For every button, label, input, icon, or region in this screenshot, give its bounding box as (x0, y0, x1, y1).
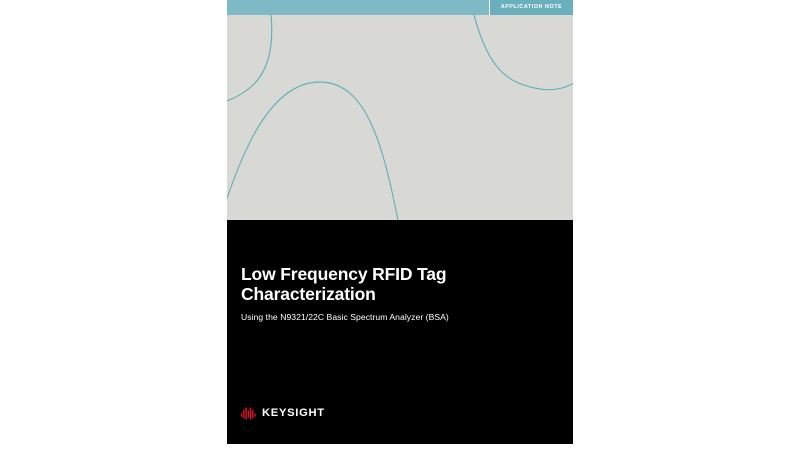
page-title: Low Frequency RFID Tag Characterization (241, 264, 561, 305)
left-descending-wave-icon (227, 0, 272, 105)
cover-title-block: Low Frequency RFID Tag Characterization … (241, 264, 561, 323)
application-note-badge-label: APPLICATION NOTE (501, 5, 562, 10)
keysight-wordmark: KEYSIGHT (262, 408, 325, 419)
brochure-cover-page: Low Frequency RFID Tag Characterization … (227, 0, 573, 444)
badge-separator (489, 0, 490, 15)
application-note-badge: APPLICATION NOTE (490, 0, 573, 15)
page-subtitle: Using the N9321/22C Basic Spectrum Analy… (241, 312, 561, 323)
wave-graphic (227, 0, 573, 220)
cover-content-panel: Low Frequency RFID Tag Characterization … (227, 220, 573, 444)
keysight-logo: KEYSIGHT (241, 407, 325, 420)
center-hump-wave-icon (227, 82, 401, 220)
cover-graphic-area (227, 0, 573, 220)
document-preview-viewer: Low Frequency RFID Tag Characterization … (0, 0, 800, 450)
keysight-waveform-mark-icon (241, 407, 258, 420)
